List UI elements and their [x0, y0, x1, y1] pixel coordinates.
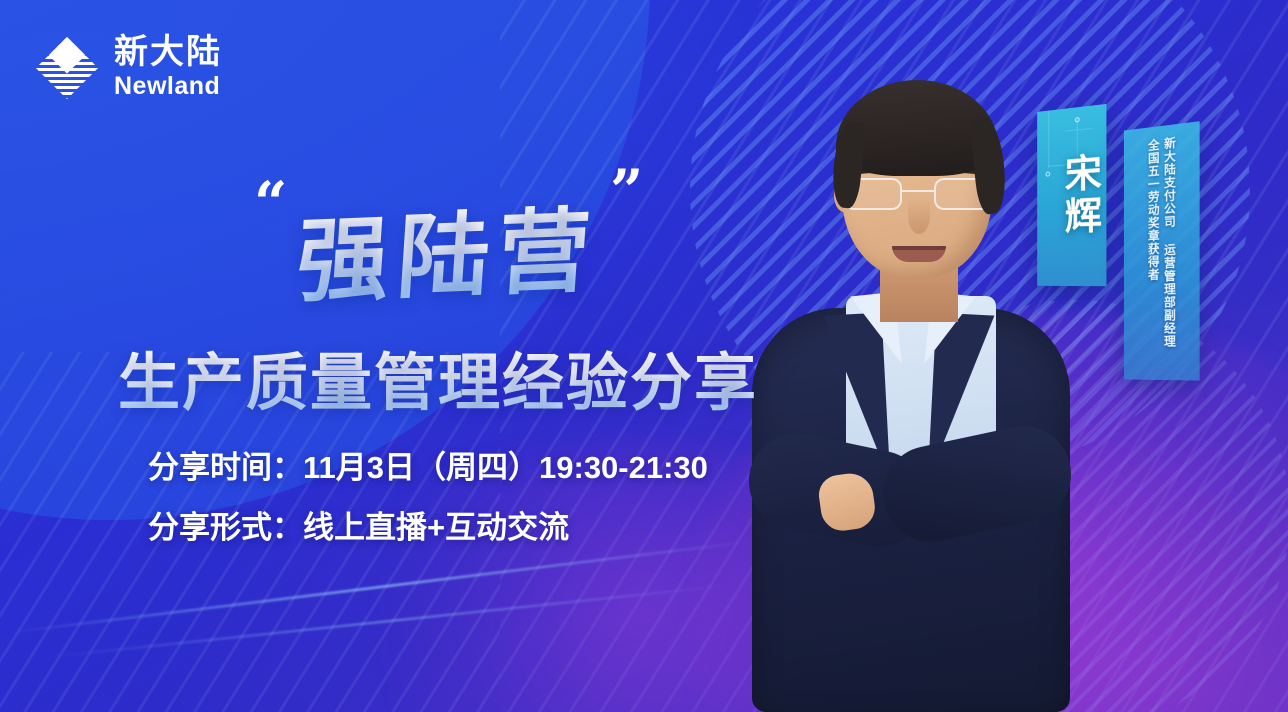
brand-logo: 新大陆 Newland — [32, 32, 222, 102]
newland-diamond-logo-icon — [32, 32, 102, 102]
speaker-credential-award: 全国五一劳动奖章获得者 — [1147, 138, 1159, 368]
brush-title-text: 强陆营 — [293, 176, 603, 320]
speaker-portrait — [742, 70, 1072, 712]
glasses-bridge — [902, 190, 934, 192]
speaker-mouth — [892, 246, 946, 262]
poster-subtitle: 生产质量管理经验分享 — [118, 332, 758, 422]
speaker-credential-company: 新大陆支付公司 运营管理部副经理 — [1163, 136, 1175, 368]
speaker-name: 宋辉 — [1037, 133, 1106, 257]
brand-name-cn: 新大陆 — [114, 35, 222, 69]
speaker-credentials-plate: 新大陆支付公司 运营管理部副经理 全国五一劳动奖章获得者 — [1124, 121, 1200, 380]
brand-logo-text: 新大陆 Newland — [114, 35, 222, 99]
quote-close-mark: ” — [610, 162, 643, 220]
quote-open-mark: “ — [254, 174, 287, 232]
session-format-line: 分享形式：线上直播+互动交流 — [148, 502, 569, 547]
brand-name-en: Newland — [114, 74, 222, 99]
brush-title-block: “ 强陆营 ” — [248, 168, 678, 308]
speaker-nose — [908, 198, 930, 234]
speaker-name-plate: 宋辉 — [1037, 104, 1106, 286]
session-time-line: 分享时间：11月3日（周四）19:30-21:30 — [148, 442, 708, 487]
promo-poster: 新大陆 Newland 宋辉 — [0, 0, 1288, 712]
